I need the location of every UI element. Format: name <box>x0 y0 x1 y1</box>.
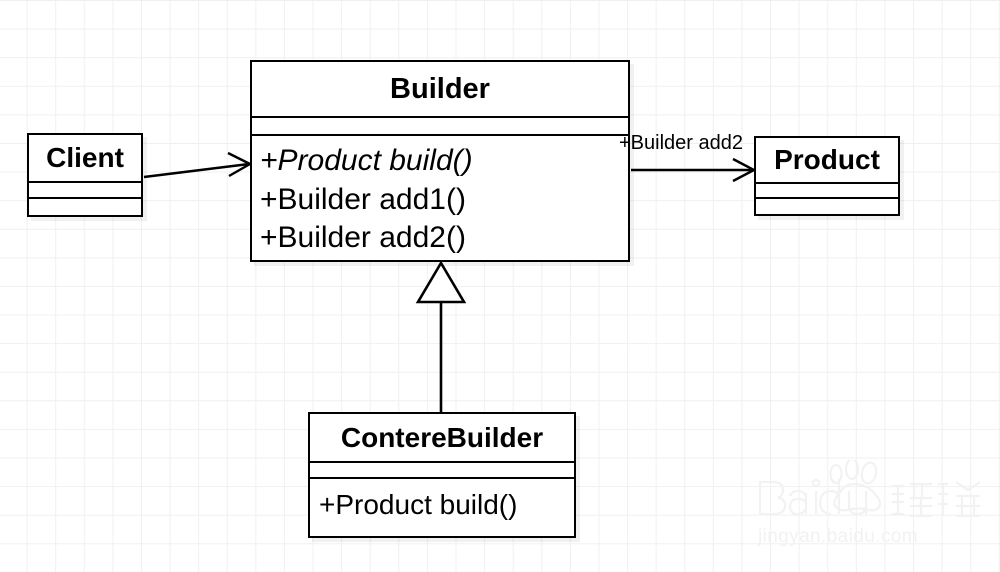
class-name-product: Product <box>756 138 898 182</box>
diagram-canvas: Client Builder +Product build() +Builder… <box>0 0 1000 572</box>
class-attributes-client <box>29 181 141 197</box>
class-name-builder: Builder <box>252 62 628 116</box>
class-member: +Builder add1() <box>252 181 628 220</box>
arrowhead-open <box>228 153 250 176</box>
class-attributes-concrete-builder <box>310 461 574 477</box>
edge-concrete-to-builder <box>418 263 464 412</box>
edge-client-to-builder <box>144 153 250 177</box>
watermark: jingyan.baidu.com <box>752 460 984 555</box>
class-box-builder[interactable]: Builder +Product build() +Builder add1()… <box>250 60 630 262</box>
class-methods-builder: +Product build() +Builder add1() +Builde… <box>252 134 628 260</box>
edge-label-builder-add2: +Builder add2 <box>619 132 743 155</box>
class-methods-concrete-builder: +Product build() <box>310 477 574 532</box>
arrowhead-open <box>733 159 754 181</box>
watermark-url: jingyan.baidu.com <box>758 526 918 548</box>
class-member: +Product build() <box>310 491 574 520</box>
class-attributes-product <box>756 182 898 197</box>
edge-builder-to-product <box>631 159 754 181</box>
class-box-client[interactable]: Client <box>27 133 143 217</box>
baidu-jingyan-logo-icon <box>752 460 984 522</box>
class-methods-product <box>756 197 898 212</box>
class-box-concrete-builder[interactable]: ContereBuilder +Product build() <box>308 412 576 538</box>
class-member: +Product build() <box>252 142 628 181</box>
class-name-concrete-builder: ContereBuilder <box>310 414 574 461</box>
class-member: +Builder add2() <box>252 219 628 258</box>
class-attributes-builder <box>252 116 628 134</box>
class-name-client: Client <box>29 135 141 181</box>
class-box-product[interactable]: Product <box>754 136 900 216</box>
arrowhead-hollow-triangle <box>418 263 464 302</box>
class-methods-client <box>29 197 141 213</box>
